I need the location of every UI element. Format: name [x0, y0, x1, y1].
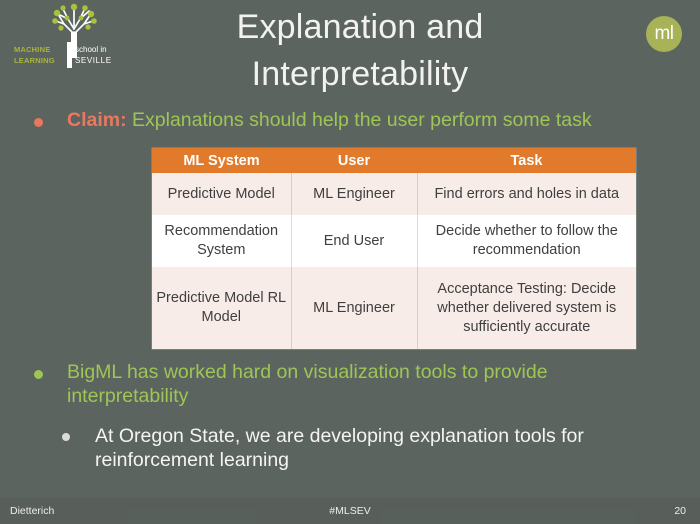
table-header-row: ML System User Task: [152, 148, 636, 173]
bullet-dot-icon: [34, 370, 43, 379]
page-title-line-1: Explanation and: [150, 4, 570, 51]
mlsev-logo-seville: SEVILLE: [75, 55, 112, 66]
page-title-line-2: Interpretability: [150, 51, 570, 98]
mlsev-logo-school-in: school in: [75, 44, 112, 55]
table-cell-ml-system: Recommendation System: [152, 215, 291, 267]
bullet-bigml: BigML has worked hard on visualization t…: [34, 360, 674, 408]
footer: Dietterich #MLSEV 20: [0, 498, 700, 524]
mlsev-logo-machine: MACHINE: [14, 44, 64, 55]
mlsev-logo-machine-learning: MACHINE LEARNING: [14, 42, 64, 66]
bullet-oregon-state: At Oregon State, we are developing expla…: [62, 424, 692, 472]
table-header-task: Task: [417, 148, 636, 173]
page-title: Explanation and Interpretability: [150, 4, 570, 98]
bullet-dot-icon: [34, 118, 43, 127]
mlsev-logo-wordmark: MACHINE LEARNING school in SEVILLE: [14, 42, 124, 74]
table-cell-task: Find errors and holes in data: [417, 173, 636, 215]
table-cell-user: ML Engineer: [291, 267, 417, 349]
mlsev-logo: MACHINE LEARNING school in SEVILLE: [14, 2, 124, 74]
bullet-claim: Claim: Explanations should help the user…: [34, 108, 674, 132]
table-header-ml-system: ML System: [152, 148, 291, 173]
table-header-user: User: [291, 148, 417, 173]
bullet-dot-icon: [62, 433, 70, 441]
table-row: Recommendation System End User Decide wh…: [152, 215, 636, 267]
slide-canvas: MACHINE LEARNING school in SEVILLE ml Ex…: [0, 0, 700, 524]
bullet-claim-text: Claim: Explanations should help the user…: [67, 108, 592, 132]
table-row: Predictive Model RL Model ML Engineer Ac…: [152, 267, 636, 349]
bullet-claim-sentence: Explanations should help the user perfor…: [132, 109, 592, 131]
table-cell-task: Acceptance Testing: Decide whether deliv…: [417, 267, 636, 349]
mlsev-logo-school-seville: school in SEVILLE: [75, 42, 112, 66]
table-cell-ml-system: Predictive Model: [152, 173, 291, 215]
bullet-oregon-state-text: At Oregon State, we are developing expla…: [95, 424, 692, 472]
footer-page-number: 20: [674, 505, 686, 517]
mlsev-logo-divider: [67, 42, 72, 68]
bullet-bigml-text: BigML has worked hard on visualization t…: [67, 360, 674, 408]
ml-system-task-table: ML System User Task Predictive Model ML …: [152, 148, 636, 349]
table-row: Predictive Model ML Engineer Find errors…: [152, 173, 636, 215]
bullet-claim-label: Claim:: [67, 109, 127, 131]
ml-badge-logo: ml: [646, 16, 682, 52]
mlsev-logo-learning: LEARNING: [14, 55, 64, 66]
table-cell-task: Decide whether to follow the recommendat…: [417, 215, 636, 267]
table-cell-user: ML Engineer: [291, 173, 417, 215]
table-cell-user: End User: [291, 215, 417, 267]
table-cell-ml-system: Predictive Model RL Model: [152, 267, 291, 349]
footer-hashtag: #MLSEV: [0, 505, 700, 517]
